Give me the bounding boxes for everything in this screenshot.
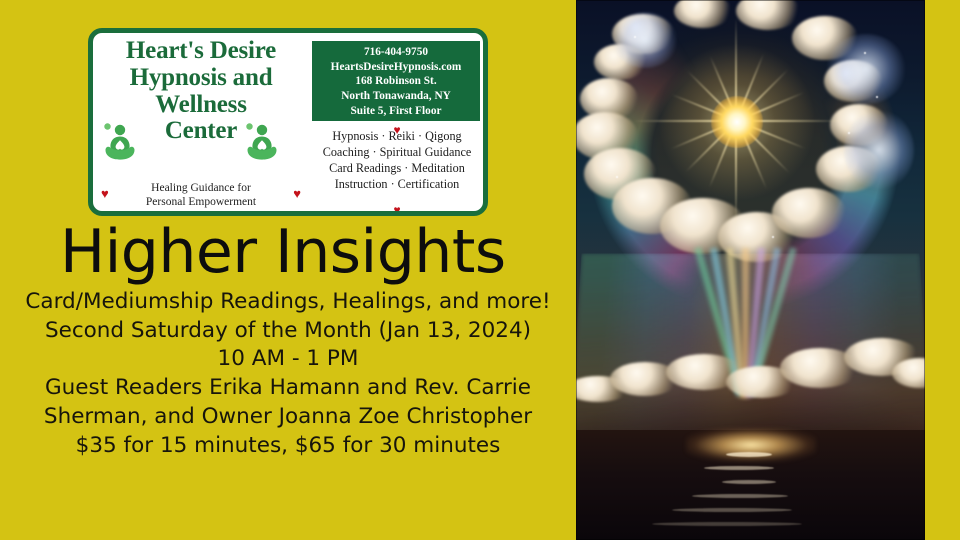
details-line-5: Sherman, and Owner Joanna Zoe Christophe… bbox=[0, 402, 576, 431]
details-line-3: 10 AM - 1 PM bbox=[0, 345, 576, 373]
water-glint bbox=[704, 466, 774, 470]
services-line-3: Card Readings · Meditation bbox=[309, 161, 485, 177]
star-sparkle bbox=[772, 236, 774, 238]
event-details: Card/Mediumship Readings, Healings, and … bbox=[0, 288, 576, 460]
logo-brand-section: Heart's Desire Hypnosis and Wellness Cen… bbox=[93, 33, 309, 211]
brand-line-3: Wellness bbox=[93, 92, 309, 119]
sparkle-cloud bbox=[844, 110, 914, 190]
tagline-line-2: Personal Empowerment bbox=[97, 195, 305, 209]
star-sparkle bbox=[616, 176, 618, 178]
details-line-1: Card/Mediumship Readings, Healings, and … bbox=[0, 288, 576, 316]
cloud-puff bbox=[772, 188, 846, 238]
details-line-2: Second Saturday of the Month (Jan 13, 20… bbox=[0, 316, 576, 345]
services-line-1: Hypnosis · Reiki · Qigong bbox=[309, 129, 485, 145]
water-glint bbox=[652, 522, 802, 526]
water-glint bbox=[672, 508, 792, 512]
sun-core bbox=[711, 96, 763, 148]
star-sparkle bbox=[848, 132, 850, 134]
business-logo-card: Heart's Desire Hypnosis and Wellness Cen… bbox=[88, 28, 488, 216]
poster-canvas: Heart's Desire Hypnosis and Wellness Cen… bbox=[0, 0, 960, 540]
heart-icon: ♥ bbox=[101, 187, 109, 200]
city-state: North Tonawanda, NY bbox=[312, 89, 480, 104]
spiritual-artwork-image bbox=[576, 0, 925, 540]
services-line-2: Coaching · Spiritual Guidance bbox=[309, 145, 485, 161]
low-cloud-band bbox=[576, 352, 925, 422]
details-line-6: $35 for 15 minutes, $65 for 30 minutes bbox=[0, 431, 576, 460]
brand-line-1: Heart's Desire bbox=[93, 38, 309, 65]
brand-line-2: Hypnosis and bbox=[93, 65, 309, 92]
sparkle-cloud bbox=[826, 34, 906, 104]
star-sparkle bbox=[634, 36, 636, 38]
services-list: Hypnosis · Reiki · Qigong Coaching · Spi… bbox=[309, 129, 485, 192]
services-heart-bottom: ♥ bbox=[309, 201, 485, 216]
sparkle-cloud bbox=[612, 12, 678, 68]
contact-info-box: 716-404-9750 HeartsDesireHypnosis.com 16… bbox=[312, 41, 480, 121]
heart-icon: ♥ bbox=[293, 187, 301, 200]
meditating-figure-icon bbox=[245, 123, 279, 161]
page-title: Higher Insights bbox=[60, 222, 506, 282]
left-content-column: Heart's Desire Hypnosis and Wellness Cen… bbox=[0, 0, 576, 540]
details-line-4: Guest Readers Erika Hamann and Rev. Carr… bbox=[0, 373, 576, 402]
star-sparkle bbox=[876, 96, 878, 98]
star-sparkle bbox=[864, 52, 866, 54]
website-url[interactable]: HeartsDesireHypnosis.com bbox=[312, 60, 480, 75]
suite-info: Suite 5, First Floor bbox=[312, 104, 480, 119]
water-glint bbox=[722, 480, 776, 484]
phone-number[interactable]: 716-404-9750 bbox=[312, 45, 480, 60]
heart-icon: ♥ bbox=[393, 203, 400, 216]
meditating-figure-icon bbox=[103, 123, 137, 161]
tagline: ♥ ♥ Healing Guidance for Personal Empowe… bbox=[97, 181, 305, 209]
tagline-line-1: Healing Guidance for bbox=[97, 181, 305, 195]
logo-contact-section: 716-404-9750 HeartsDesireHypnosis.com 16… bbox=[309, 33, 485, 211]
street-address: 168 Robinson St. bbox=[312, 74, 480, 89]
services-line-4: Instruction · Certification bbox=[309, 177, 485, 193]
water-glint bbox=[692, 494, 788, 498]
water-glint bbox=[726, 452, 772, 457]
